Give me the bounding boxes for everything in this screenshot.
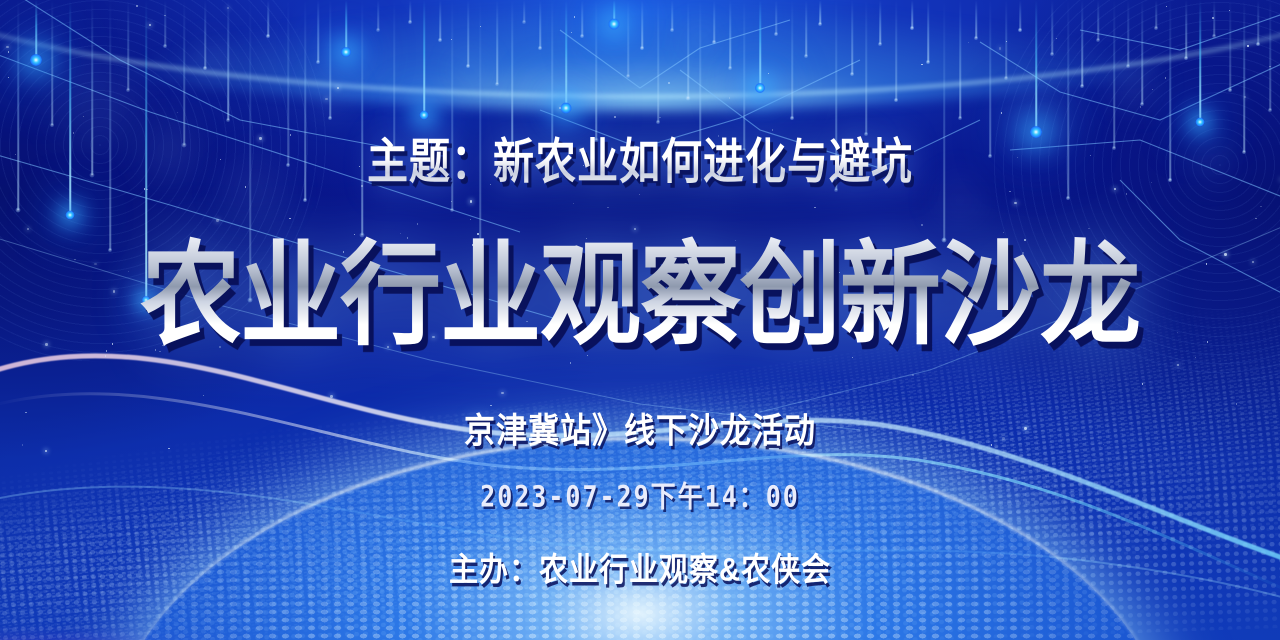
- event-datetime: 2023-07-29下午14：00: [480, 474, 800, 516]
- page-title: 农业行业观察创新沙龙: [140, 203, 1140, 367]
- theme-label: 主题：新农业如何进化与避坑: [367, 122, 913, 193]
- organizer-label: 主办：农业行业观察&农侠会: [449, 543, 831, 590]
- subtitle-label: 京津冀站》线下沙龙活动: [464, 402, 816, 452]
- poster-text-block: 主题：新农业如何进化与避坑 农业行业观察创新沙龙 京津冀站》线下沙龙活动 202…: [0, 0, 1280, 640]
- event-poster: 主题：新农业如何进化与避坑 农业行业观察创新沙龙 京津冀站》线下沙龙活动 202…: [0, 0, 1280, 640]
